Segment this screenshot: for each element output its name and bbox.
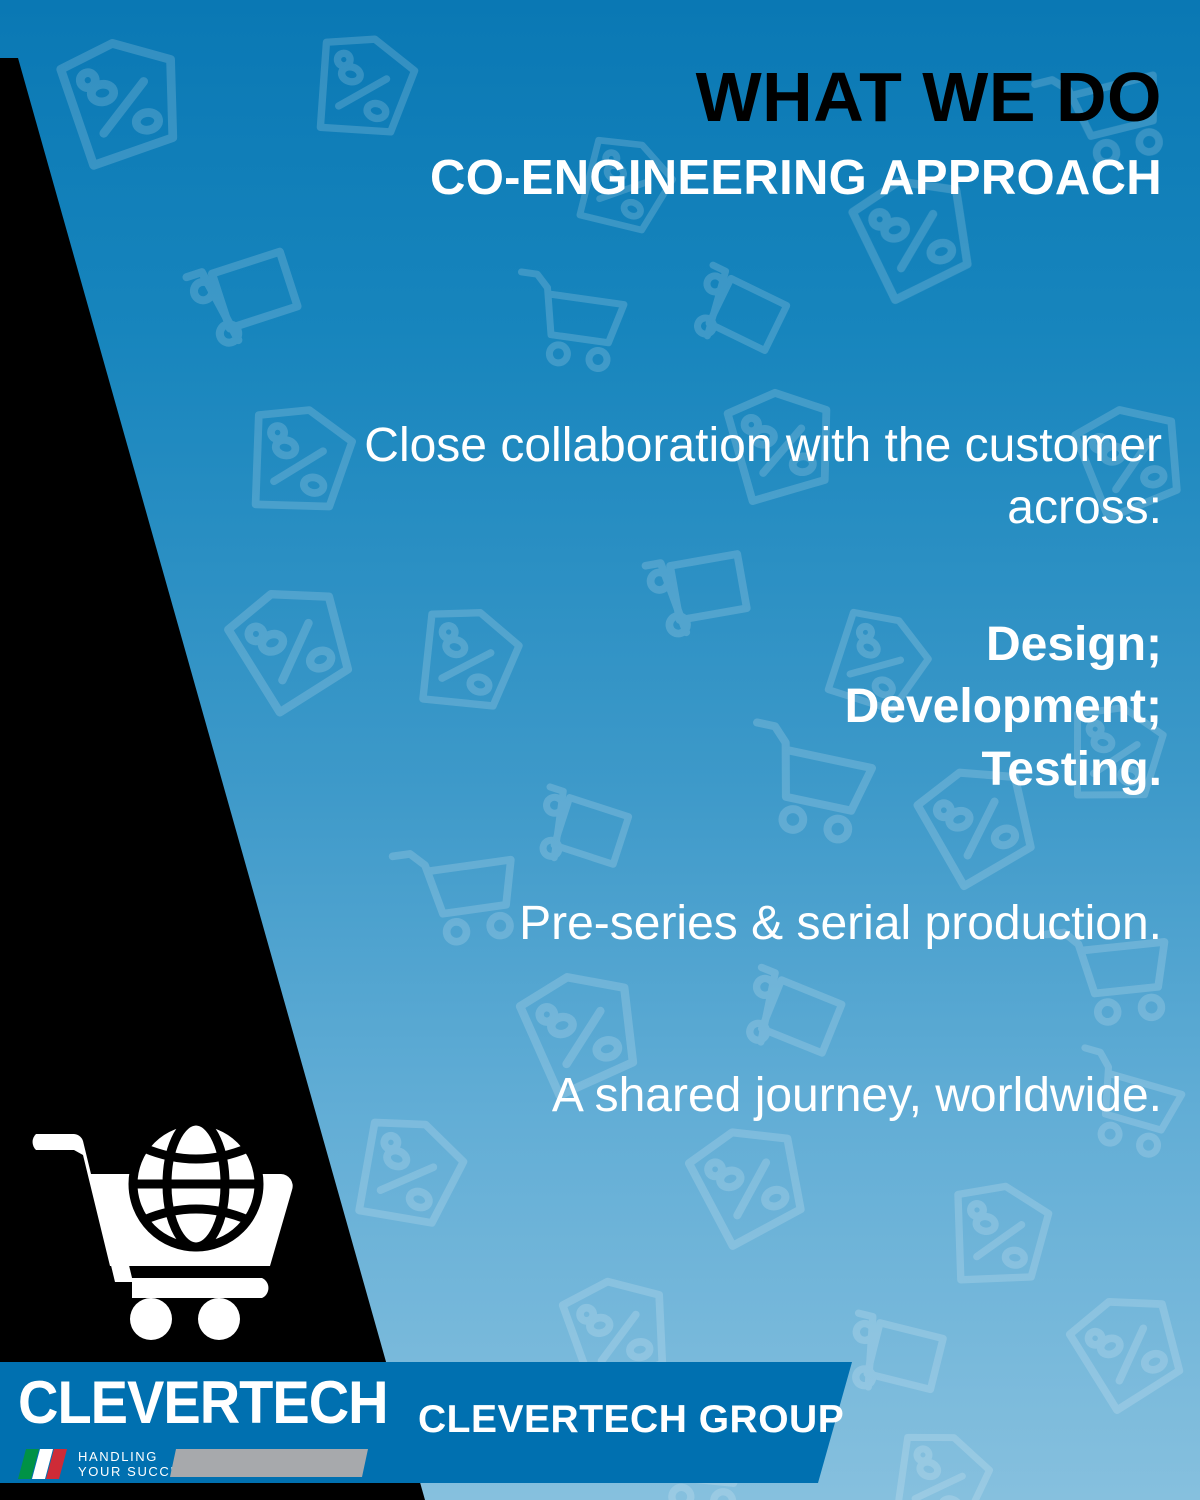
intro-text: Close collaboration with the customer ac… — [240, 415, 1162, 540]
company-logo: CLEVERTECH — [18, 1372, 388, 1428]
logo-accent-bar — [170, 1449, 368, 1477]
page-subtitle: CO-ENGINEERING APPROACH — [300, 154, 1162, 203]
logo-wordmark: CLEVERTECH — [18, 1372, 388, 1432]
slide-canvas: WHAT WE DO CO-ENGINEERING APPROACH Close… — [0, 0, 1200, 1500]
footer-group-label: CLEVERTECH GROUP — [418, 1398, 844, 1442]
italian-flag-icon — [18, 1449, 70, 1479]
page-title: WHAT WE DO — [300, 62, 1162, 132]
production-text: Pre-series & serial production. — [240, 893, 1162, 955]
heading-group: WHAT WE DO CO-ENGINEERING APPROACH — [300, 62, 1162, 203]
spacer — [240, 540, 1162, 614]
list-item-design: Design; — [240, 614, 1162, 676]
spacer — [240, 955, 1162, 1065]
list-item-testing: Testing. — [240, 739, 1162, 801]
list-item-development: Development; — [240, 676, 1162, 738]
closing-text: A shared journey, worldwide. — [240, 1065, 1162, 1127]
spacer — [240, 801, 1162, 893]
body-copy: Close collaboration with the customer ac… — [240, 415, 1162, 1128]
shopping-cart-globe-icon — [28, 1112, 318, 1347]
